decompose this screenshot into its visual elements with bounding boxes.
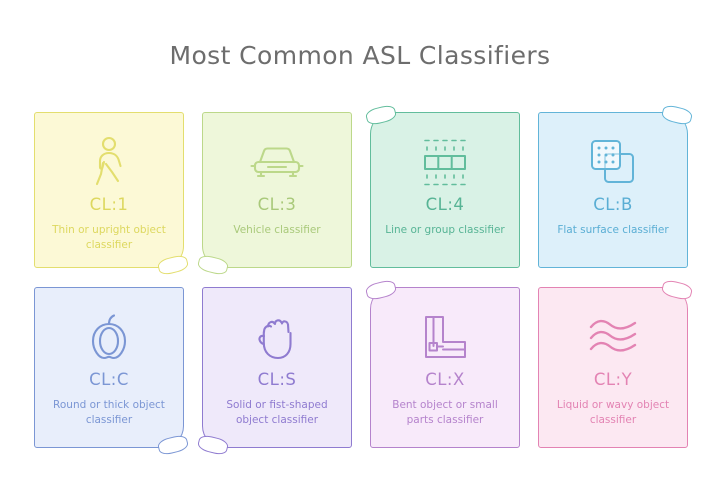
flat-surface-squares-icon xyxy=(587,133,639,191)
page-curl-icon xyxy=(365,104,398,127)
classifier-description: Vehicle classifier xyxy=(221,223,332,238)
classifier-card-cl4[interactable]: CL:4Line or group classifier xyxy=(370,112,520,268)
car-icon xyxy=(249,133,305,191)
classifier-description: Bent object or small parts classifier xyxy=(371,398,519,427)
classifier-card-cls[interactable]: CL:SSolid or fist-shaped object classifi… xyxy=(202,287,352,448)
classifier-card-cl3[interactable]: CL:3Vehicle classifier xyxy=(202,112,352,268)
classifier-description: Line or group classifier xyxy=(373,223,517,238)
classifier-card-cly[interactable]: CL:YLiquid or wavy object classifier xyxy=(538,287,688,448)
classifier-description: Round or thick object classifier xyxy=(35,398,183,427)
classifier-code: CL:3 xyxy=(258,195,297,214)
page-curl-icon xyxy=(661,279,694,302)
classifier-description: Solid or fist-shaped object classifier xyxy=(203,398,351,427)
wavy-lines-icon xyxy=(586,308,640,366)
classifier-description: Flat surface classifier xyxy=(545,223,680,238)
line-group-grid-icon xyxy=(416,133,474,191)
classifier-card-clx[interactable]: CL:XBent object or small parts classifie… xyxy=(370,287,520,448)
classifier-card-grid: CL:1Thin or upright object classifier CL… xyxy=(34,112,688,448)
classifier-code: CL:Y xyxy=(594,370,632,389)
classifier-code: CL:1 xyxy=(90,195,129,214)
page-curl-icon xyxy=(197,254,230,277)
classifier-code: CL:X xyxy=(425,370,465,389)
classifier-code: CL:B xyxy=(593,195,633,214)
classifier-code: CL:4 xyxy=(426,195,465,214)
classifier-description: Liquid or wavy object classifier xyxy=(539,398,687,427)
page-curl-icon xyxy=(197,434,230,457)
classifier-code: CL:C xyxy=(89,370,129,389)
page-curl-icon xyxy=(157,254,190,277)
page-curl-icon xyxy=(661,104,694,127)
classifier-card-clc[interactable]: CL:CRound or thick object classifier xyxy=(34,287,184,448)
classifier-description: Thin or upright object classifier xyxy=(35,223,183,252)
page-title: Most Common ASL Classifiers xyxy=(0,41,720,70)
classifier-card-cl1[interactable]: CL:1Thin or upright object classifier xyxy=(34,112,184,268)
classifier-card-clb[interactable]: CL:BFlat surface classifier xyxy=(538,112,688,268)
classifier-code: CL:S xyxy=(258,370,297,389)
apple-icon xyxy=(87,308,131,366)
bent-object-icon xyxy=(419,308,471,366)
fist-icon xyxy=(254,308,300,366)
page-curl-icon xyxy=(157,434,190,457)
walking-person-icon xyxy=(89,133,129,191)
poster-canvas: Most Common ASL Classifiers CL:1Thin or … xyxy=(0,0,720,498)
page-curl-icon xyxy=(365,279,398,302)
